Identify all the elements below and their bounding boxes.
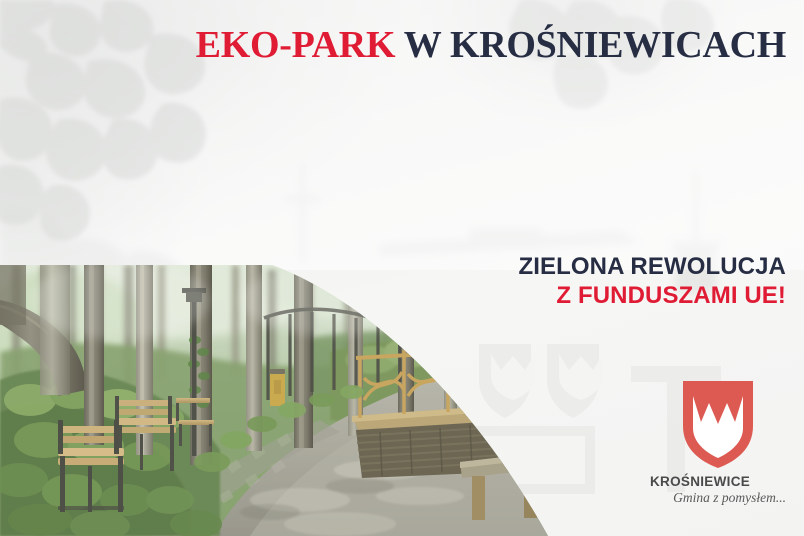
krosniewice-logo: KROŚNIEWICE Gmina z pomysłem... [648, 378, 788, 506]
subtitle-line-2: Z FUNDUSZAMI UE! [519, 281, 786, 310]
headline-navy-part: W KROŚNIEWICACH [395, 24, 786, 66]
headline-red-part: EKO-PARK [196, 24, 396, 66]
poster-headline: EKO-PARK W KROŚNIEWICACH [0, 26, 786, 64]
logo-municipality-name: KROŚNIEWICE [648, 474, 788, 489]
logo-tagline: Gmina z pomysłem... [648, 490, 788, 506]
poster-subtitle: ZIELONA REWOLUCJA Z FUNDUSZAMI UE! [519, 252, 786, 311]
subtitle-line-1: ZIELONA REWOLUCJA [519, 252, 786, 281]
shield-crest-icon [679, 378, 757, 470]
poster-canvas: EKO-PARK W KROŚNIEWICACH ZIELONA REWOLUC… [0, 0, 804, 536]
